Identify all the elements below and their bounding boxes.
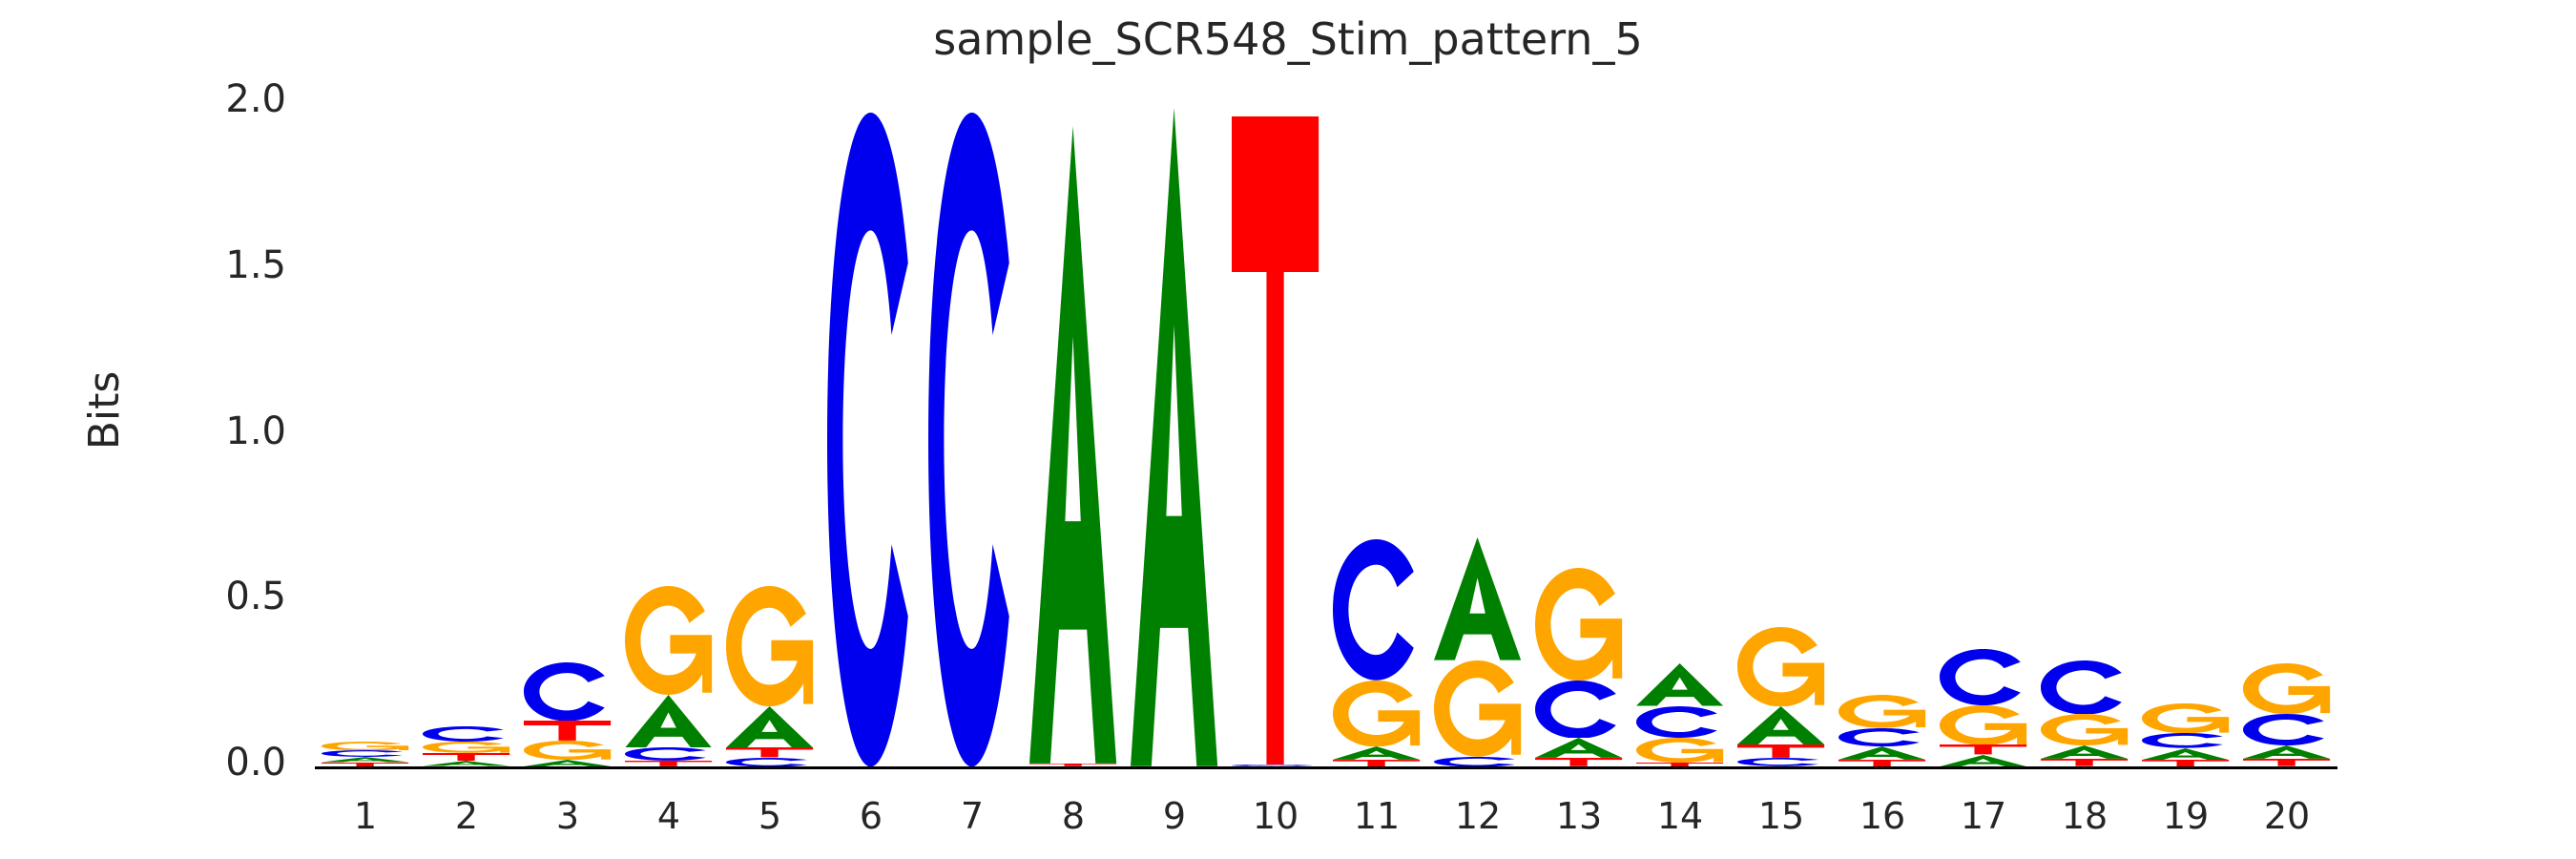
x-tick-label: 17	[1926, 795, 2041, 837]
x-axis-ticks: 1234567891011121314151617181920	[0, 0, 2576, 859]
x-tick-label: 11	[1319, 795, 1434, 837]
x-tick-label: 13	[1522, 795, 1636, 837]
x-tick-label: 19	[2129, 795, 2243, 837]
x-tick-label: 9	[1117, 795, 1232, 837]
x-tick-label: 15	[1724, 795, 1839, 837]
x-tick-label: 18	[2027, 795, 2142, 837]
x-tick-label: 14	[1623, 795, 1737, 837]
x-tick-label: 3	[510, 795, 625, 837]
x-tick-label: 20	[2230, 795, 2344, 837]
sequence-logo-figure: sample_SCR548_Stim_pattern_5 Bits 0.00.5…	[0, 0, 2576, 859]
x-tick-label: 2	[409, 795, 524, 837]
x-tick-label: 16	[1825, 795, 1940, 837]
x-tick-label: 12	[1421, 795, 1535, 837]
x-tick-label: 10	[1218, 795, 1333, 837]
x-tick-label: 1	[308, 795, 423, 837]
x-tick-label: 6	[814, 795, 928, 837]
x-tick-label: 7	[915, 795, 1029, 837]
x-tick-label: 5	[713, 795, 827, 837]
x-tick-label: 8	[1016, 795, 1131, 837]
x-tick-label: 4	[612, 795, 726, 837]
